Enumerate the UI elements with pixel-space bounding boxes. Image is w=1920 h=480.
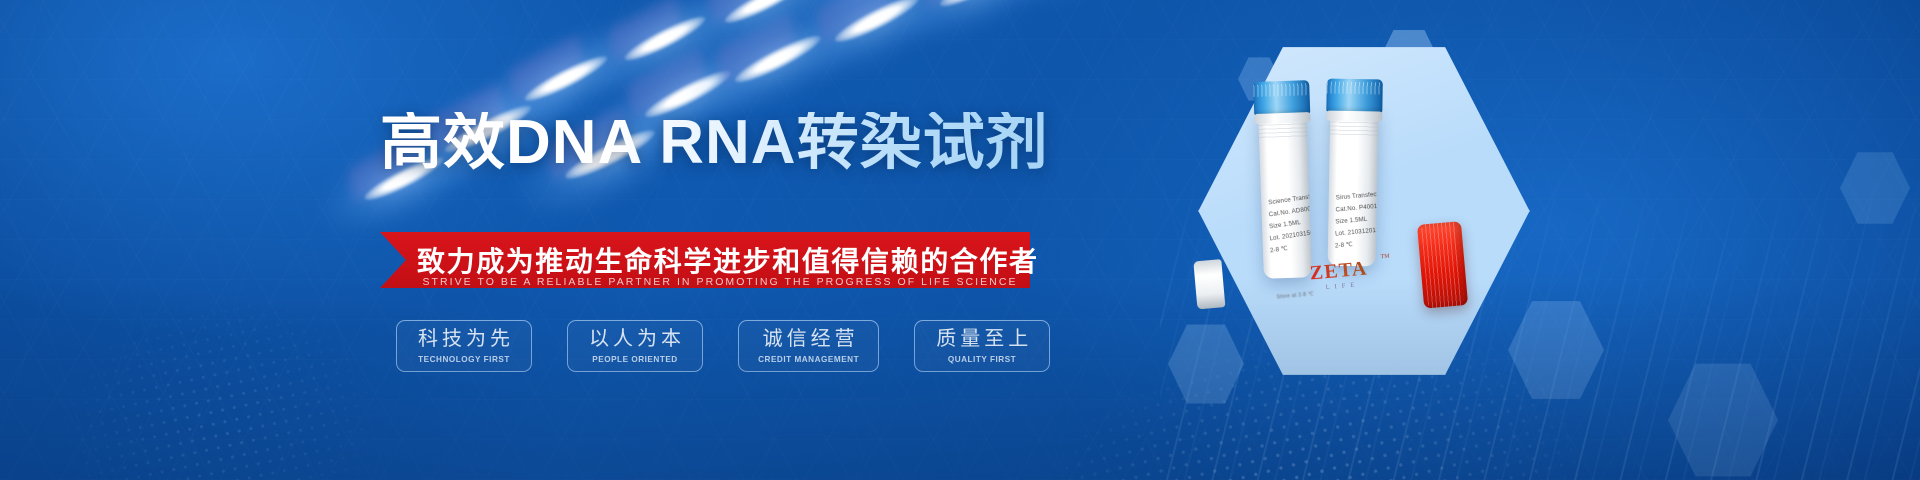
- vial-group: Science Transfec Cat.No. AD80015 Size 1.…: [1195, 42, 1525, 372]
- hexagon-decor-5: [1668, 360, 1778, 480]
- feature-pill-quality-first[interactable]: 质量至上 QUALITY FIRST: [914, 320, 1050, 372]
- feature-label-en: PEOPLE ORIENTED: [587, 354, 683, 364]
- vial-cap-blue-right: [1326, 79, 1383, 114]
- hexagon-decor-6: [1840, 150, 1910, 226]
- feature-label-en: TECHNOLOGY FIRST: [416, 354, 512, 364]
- product-image: Science Transfec Cat.No. AD80015 Size 1.…: [1195, 42, 1525, 372]
- vial-right-label-line-1: Sirus Transfection: [1335, 190, 1372, 203]
- feature-pill-people-oriented[interactable]: 以人为本 PEOPLE ORIENTED: [567, 320, 703, 372]
- vial-right-label-line-3: Size 1.5ML: [1335, 214, 1372, 227]
- promo-banner: 高效DNA RNA转染试剂 致力成为推动生命科学进步和值得信赖的合作者 STRI…: [0, 0, 1920, 480]
- brand-logo: ZETA TM LIFE: [1290, 257, 1388, 294]
- feature-label-cn: 科技为先: [414, 328, 514, 351]
- feature-pill-list: 科技为先 TECHNOLOGY FIRST 以人为本 PEOPLE ORIENT…: [396, 320, 1050, 372]
- feature-label-cn: 质量至上: [932, 328, 1032, 351]
- vial-right-label-line-2: Cat.No. P40015B: [1335, 202, 1372, 215]
- ribbon-slogan-english: STRIVE TO BE A RELIABLE PARTNER IN PROMO…: [420, 276, 1020, 288]
- page-title: 高效DNA RNA转染试剂: [380, 112, 1049, 174]
- feature-pill-technology-first[interactable]: 科技为先 TECHNOLOGY FIRST: [396, 320, 532, 372]
- feature-label-cn: 以人为本: [585, 328, 685, 351]
- vial-front: Store at 2-8 ℃ ZETA TM LIFE: [1214, 229, 1440, 322]
- vial-cap-red: [1417, 221, 1468, 309]
- feature-label-cn: 诚信经营: [756, 328, 861, 351]
- feature-label-en: CREDIT MANAGEMENT: [758, 354, 859, 364]
- vial-cap-blue-left: [1253, 80, 1310, 116]
- ribbon-slogan-chinese: 致力成为推动生命科学进步和值得信赖的合作者: [417, 240, 1017, 280]
- feature-label-en: QUALITY FIRST: [934, 354, 1030, 364]
- trademark-icon: TM: [1380, 253, 1389, 260]
- vial-front-base: [1193, 259, 1225, 309]
- banner-content: 高效DNA RNA转染试剂 致力成为推动生命科学进步和值得信赖的合作者 STRI…: [0, 0, 1100, 480]
- feature-pill-credit-management[interactable]: 诚信经营 CREDIT MANAGEMENT: [738, 320, 879, 372]
